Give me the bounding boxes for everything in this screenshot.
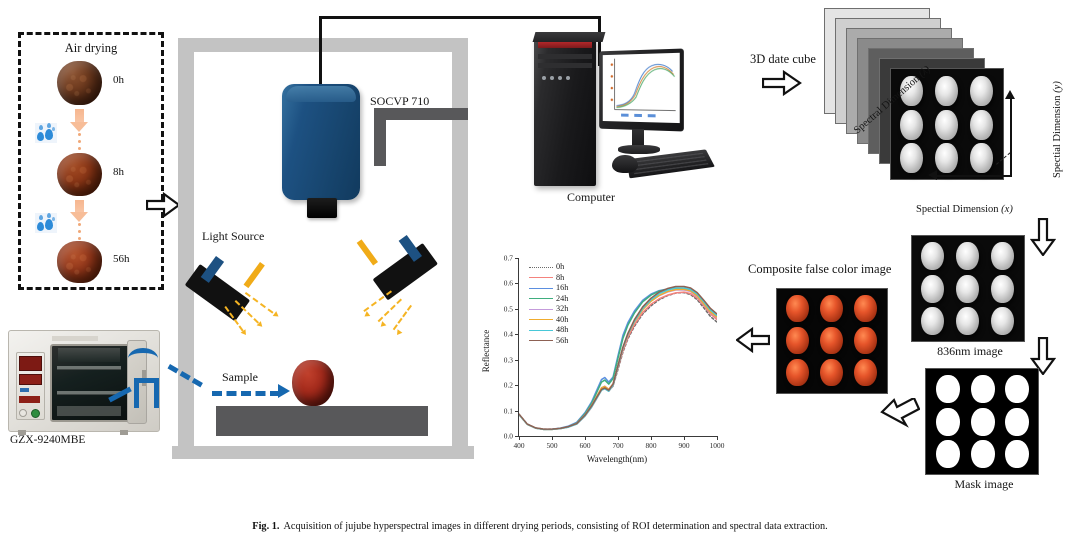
legend-label: 8h [556,274,564,282]
composite-false-color-label: Composite false color image [748,262,891,277]
computer-workstation: Computer [512,22,712,212]
legend-label: 0h [556,263,564,271]
legend-swatch [529,267,553,268]
stage-label-56h: 56h [113,253,130,265]
figure-root: Air drying 0h 8h [0,0,1080,544]
legend-label: 24h [556,295,568,303]
light-source-right [348,254,440,326]
light-source-left [200,254,286,326]
mask-image-label: Mask image [928,477,1040,492]
hyperspectral-data-cube [824,6,1080,192]
water-evaporation-icon-1 [35,123,57,143]
legend-label: 32h [556,305,568,313]
air-drying-panel: Air drying 0h 8h [18,32,164,290]
stage-label-8h: 8h [113,166,124,178]
legend-swatch [529,340,553,341]
legend-item-16h: 16h [529,283,568,294]
oven-model-label: GZX-9240MBE [10,434,85,446]
hyperspectral-chamber: SOCVP 710 Light Source [178,38,468,468]
figure-caption: Fig. 1. Acquisition of jujube hyperspect… [0,516,1080,534]
legend-label: 48h [556,326,568,334]
legend-label: 56h [556,337,568,345]
jujube-sample-56h [57,241,102,283]
arrow-composite-to-chart [736,326,770,354]
chart-legend: 0h8h16h24h32h40h48h56h [529,262,568,346]
legend-swatch [529,319,553,320]
arrow-drying-to-chamber [146,192,180,218]
arrow-mask-to-composite [880,398,920,436]
jujube-sample-in-chamber [292,360,334,406]
hyperspectral-camera [282,84,360,200]
legend-label: 40h [556,316,568,324]
drying-arrow-1 [75,109,84,123]
light-source-label: Light Source [202,229,264,244]
sample-label: Sample [222,370,258,385]
cube-axis-y-text: Spectial Dimension [1052,95,1063,178]
camera-pc-cable [319,16,601,19]
legend-item-40h: 40h [529,315,568,326]
legend-swatch [529,330,553,331]
legend-item-8h: 8h [529,273,568,284]
spectral-reflectance-chart: Reflectance 0.00.10.20.30.40.50.60.7 400… [474,250,732,474]
legend-swatch [529,298,553,299]
stage-label-0h: 0h [113,74,124,86]
caption-text: Acquisition of jujube hyperspectral imag… [283,521,827,532]
legend-item-32h: 32h [529,304,568,315]
composite-false-color-image [776,288,888,394]
legend-swatch [529,277,553,278]
water-evaporation-icon-2 [35,213,57,233]
cube-axis-x-symbol: (x) [1001,204,1013,215]
cube-axis-lambda: Spectral Dimension (λ) [852,128,949,139]
arrow-pc-to-cube [762,70,802,96]
legend-swatch [529,288,553,289]
computer-label: Computer [567,190,615,205]
camera-model-label: SOCVP 710 [370,94,429,109]
caption-label: Fig. 1. [252,521,279,532]
legend-label: 16h [556,284,568,292]
cube-title: 3D date cube [750,52,816,67]
jujube-sample-0h [57,61,102,105]
band-836nm-image [911,235,1025,342]
legend-item-0h: 0h [529,262,568,273]
legend-swatch [529,309,553,310]
jujube-sample-8h [57,153,102,196]
arrow-cube-to-band [1030,218,1056,256]
cube-axis-y: Spectial Dimension (y) [1052,178,1080,189]
cube-axis-y-symbol: (y) [1052,81,1063,93]
legend-item-56h: 56h [529,336,568,347]
chart-x-axis-title: Wavelength(nm) [518,454,716,464]
cube-axis-x-text: Spectial Dimension [916,204,999,215]
band-836nm-label: 836nm image [914,344,1026,359]
monitor-spectral-plot [603,53,680,123]
mask-image [925,368,1039,475]
legend-item-48h: 48h [529,325,568,336]
cube-axis-x: Spectial Dimension (x) [916,204,1013,215]
drying-arrow-2 [75,200,84,213]
chart-y-axis-title: Reflectance [481,311,491,391]
legend-item-24h: 24h [529,294,568,305]
drying-oven: GZX-9240MBE [8,330,173,440]
air-drying-title: Air drying [21,41,161,56]
